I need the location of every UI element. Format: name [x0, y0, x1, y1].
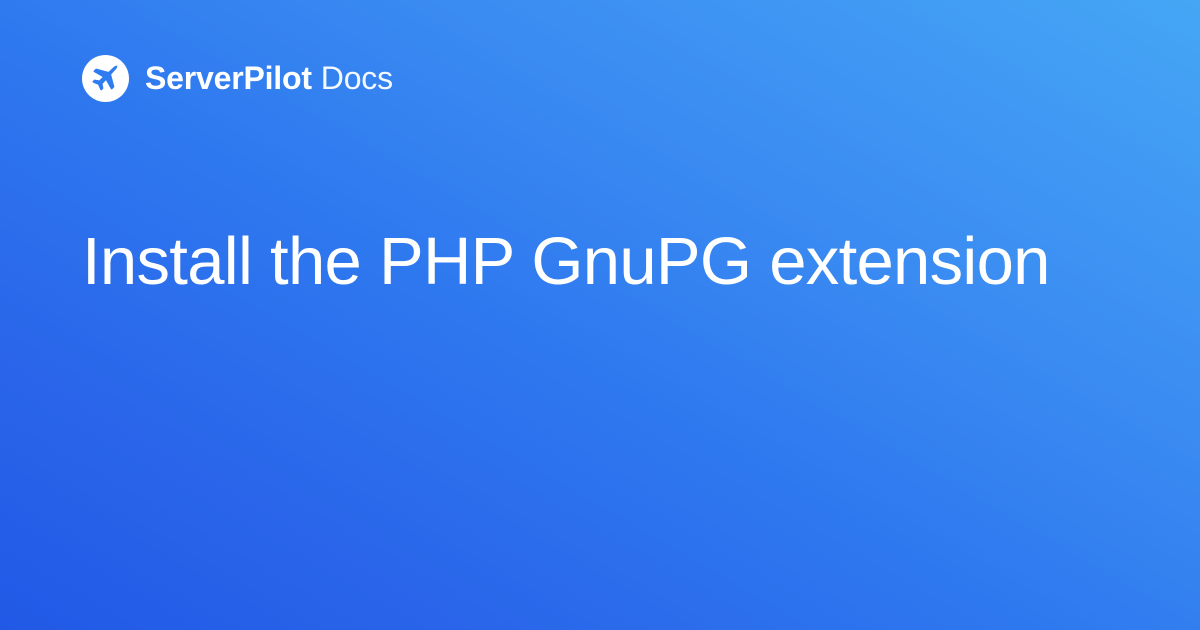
serverpilot-logo	[82, 55, 129, 102]
airplane-icon	[90, 63, 121, 94]
brand-lockup: ServerPilotDocs	[82, 54, 393, 102]
brand-name: ServerPilot	[145, 60, 312, 96]
brand-wordmark: ServerPilotDocs	[145, 62, 393, 94]
brand-section: Docs	[321, 60, 393, 96]
social-share-card: ServerPilotDocs Install the PHP GnuPG ex…	[0, 0, 1200, 630]
title-container: Install the PHP GnuPG extension	[82, 224, 1130, 299]
page-title: Install the PHP GnuPG extension	[82, 224, 1130, 299]
